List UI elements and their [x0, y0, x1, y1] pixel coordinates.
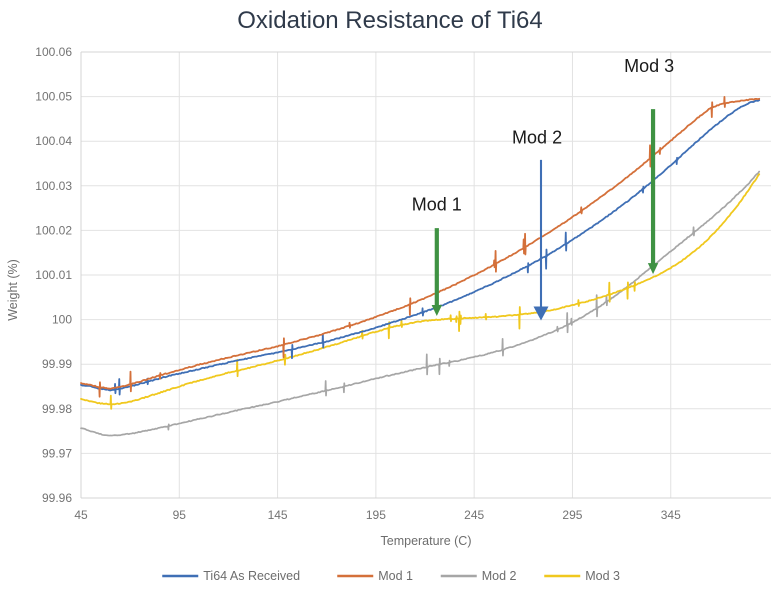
y-tick-label-6: 100.02 [35, 223, 72, 237]
x-tick-label-1: 95 [173, 508, 187, 522]
x-axis-title: Temperature (C) [381, 534, 472, 548]
annotation-label-mod-1: Mod 1 [412, 194, 462, 214]
y-tick-label-1: 99.97 [42, 446, 72, 460]
y-tick-label-5: 100.01 [35, 268, 72, 282]
y-axis-title: Weight (%) [6, 259, 20, 321]
page-title: Oxidation Resistance of Ti64 [237, 7, 543, 34]
annotation-label-mod-2: Mod 2 [512, 127, 562, 147]
x-tick-label-2: 145 [268, 508, 288, 522]
x-tick-label-3: 195 [366, 508, 386, 522]
chart-background [0, 0, 780, 592]
x-tick-label-5: 295 [562, 508, 582, 522]
x-tick-label-6: 345 [661, 508, 681, 522]
x-tick-label-0: 45 [74, 508, 88, 522]
y-tick-label-10: 100.06 [35, 45, 72, 59]
y-tick-label-7: 100.03 [35, 179, 72, 193]
y-tick-label-0: 99.96 [42, 491, 72, 505]
y-tick-label-4: 100 [52, 313, 72, 327]
y-tick-label-2: 99.98 [42, 402, 72, 416]
x-tick-label-4: 245 [464, 508, 484, 522]
legend-label-mod-2: Mod 2 [482, 569, 517, 583]
y-tick-label-8: 100.04 [35, 134, 72, 148]
y-tick-label-9: 100.05 [35, 90, 72, 104]
y-tick-label-3: 99.99 [42, 357, 72, 371]
legend-label-mod-3: Mod 3 [585, 569, 620, 583]
chart-container: Oxidation Resistance of Ti64 99.9699.979… [0, 0, 780, 592]
legend-label-mod-1: Mod 1 [378, 569, 413, 583]
oxidation-resistance-chart: Oxidation Resistance of Ti64 99.9699.979… [0, 0, 780, 592]
legend-label-ti64-as-received: Ti64 As Received [203, 569, 300, 583]
annotation-label-mod-3: Mod 3 [624, 56, 674, 76]
